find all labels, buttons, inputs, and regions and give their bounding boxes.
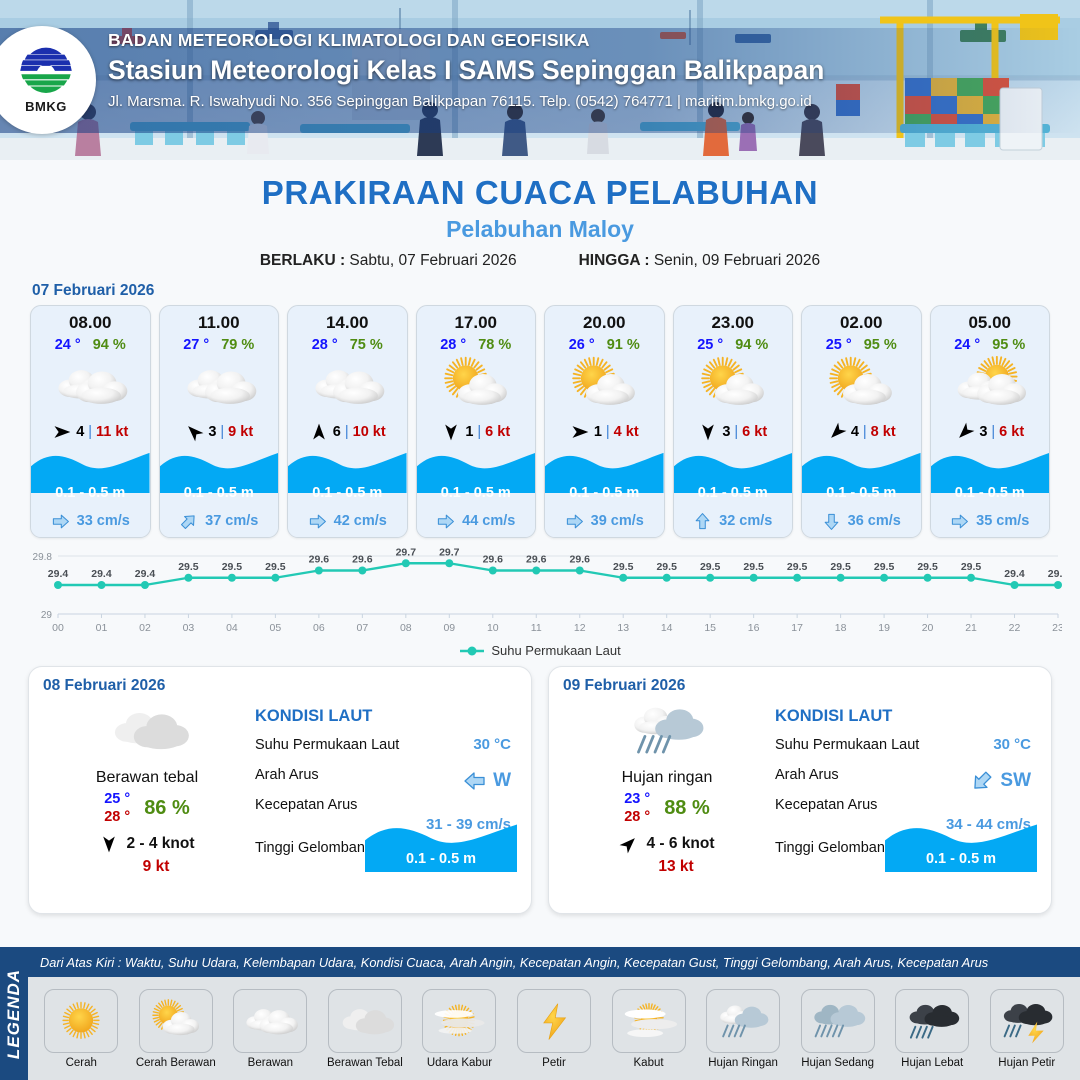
svg-text:29.7: 29.7 bbox=[439, 548, 460, 558]
weather-icon-hujan-petir bbox=[995, 993, 1059, 1049]
wind-direction-arrow-S bbox=[441, 422, 461, 442]
legend-items: Cerah Cerah Berawan bbox=[28, 977, 1080, 1080]
svg-text:29.5: 29.5 bbox=[222, 561, 243, 573]
card-wave-height: 0.1 - 0.5 m bbox=[31, 485, 150, 501]
card-humidity: 91 % bbox=[607, 337, 640, 353]
daily-temps: 25 ° 28 ° 86 % bbox=[43, 790, 251, 826]
legend-item: Berawan bbox=[225, 989, 316, 1069]
card-wind-gust: 9 kt bbox=[228, 424, 253, 440]
card-wind-gust: 6 kt bbox=[742, 424, 767, 440]
legend-icon-box bbox=[328, 989, 402, 1053]
daily-temp-range: 23 ° 28 ° bbox=[624, 790, 650, 826]
card-current-speed: 39 cm/s bbox=[591, 513, 644, 529]
card-wind: 3 | 6 kt bbox=[931, 417, 1050, 447]
station-name: Stasiun Meteorologi Kelas I SAMS Sepingg… bbox=[108, 55, 824, 86]
weather-icon-berawan bbox=[47, 356, 133, 416]
station-address: Jl. Marsma. R. Iswahyudi No. 356 Sepingg… bbox=[108, 93, 824, 110]
legend-icon-box bbox=[895, 989, 969, 1053]
daily-temp-min: 25 ° bbox=[104, 790, 130, 808]
daily-right: KONDISI LAUT Suhu Permukaan Laut 30 °C A… bbox=[771, 697, 1037, 876]
card-wind-separator: | bbox=[345, 424, 349, 440]
page-header: BMKG BADAN METEOROLOGI KLIMATOLOGI DAN G… bbox=[0, 0, 1080, 160]
daily-condition: Berawan tebal bbox=[43, 769, 251, 787]
weather-icon-petir bbox=[522, 993, 586, 1049]
svg-text:16: 16 bbox=[748, 622, 760, 634]
card-weather-icon bbox=[674, 355, 793, 417]
weather-icon-cerah-berawan bbox=[433, 356, 519, 416]
sea-row-sst: Suhu Permukaan Laut 30 °C bbox=[775, 730, 1037, 760]
svg-text:29.5: 29.5 bbox=[961, 561, 982, 573]
current-direction-arrow-S bbox=[822, 512, 841, 531]
card-wind-value: 4 bbox=[851, 424, 859, 440]
wind-direction-arrow-E bbox=[52, 422, 72, 442]
legend-icon-box bbox=[422, 989, 496, 1053]
sea-row-current-speed: Kecepatan Arus bbox=[775, 790, 1037, 820]
svg-text:02: 02 bbox=[139, 622, 151, 634]
hourly-card[interactable]: 08.00 24 ° 94 % 4 | 1 bbox=[30, 305, 151, 538]
wind-direction-arrow-SW bbox=[955, 422, 975, 442]
card-temp-hum: 25 ° 94 % bbox=[674, 337, 793, 353]
svg-text:29.4: 29.4 bbox=[135, 568, 156, 580]
svg-text:29.4: 29.4 bbox=[91, 568, 112, 580]
valid-until-label: HINGGA : bbox=[579, 252, 650, 269]
legend-item: Hujan Sedang bbox=[792, 989, 883, 1069]
valid-until: HINGGA : Senin, 09 Februari 2026 bbox=[579, 252, 821, 270]
card-wave: 0.1 - 0.5 m bbox=[160, 449, 279, 505]
daily-temp-range: 25 ° 28 ° bbox=[104, 790, 130, 826]
legend-item-label: Udara Kabur bbox=[427, 1057, 492, 1069]
legend-item: Berawan Tebal bbox=[320, 989, 411, 1069]
card-time: 08.00 bbox=[31, 306, 150, 333]
legend-line-swatch bbox=[459, 645, 485, 657]
legend-icon-box bbox=[801, 989, 875, 1053]
svg-text:29.5: 29.5 bbox=[787, 561, 808, 573]
svg-text:14: 14 bbox=[661, 622, 673, 634]
card-weather-icon bbox=[417, 355, 536, 417]
card-wave-height: 0.1 - 0.5 m bbox=[545, 485, 664, 501]
card-current-speed: 32 cm/s bbox=[719, 513, 772, 529]
svg-text:01: 01 bbox=[96, 622, 108, 634]
svg-text:15: 15 bbox=[704, 622, 716, 634]
card-temperature: 28 ° bbox=[312, 337, 338, 353]
card-weather-icon bbox=[160, 355, 279, 417]
card-current-speed: 44 cm/s bbox=[462, 513, 515, 529]
card-current: 37 cm/s bbox=[160, 505, 279, 537]
card-current: 32 cm/s bbox=[674, 505, 793, 537]
card-wind-value: 1 bbox=[465, 424, 473, 440]
legend-side-bar: LEGENDA bbox=[0, 947, 28, 1080]
svg-text:12: 12 bbox=[574, 622, 586, 634]
sea-row-wave-label: Tinggi Gelombang bbox=[255, 840, 373, 856]
port-name: Pelabuhan Maloy bbox=[0, 216, 1080, 243]
legend-item: Kabut bbox=[603, 989, 694, 1069]
card-temperature: 24 ° bbox=[954, 337, 980, 353]
card-temp-hum: 27 ° 79 % bbox=[160, 337, 279, 353]
card-time: 05.00 bbox=[931, 306, 1050, 333]
card-temperature: 25 ° bbox=[826, 337, 852, 353]
weather-icon-cerah-berawan bbox=[561, 356, 647, 416]
card-temperature: 27 ° bbox=[183, 337, 209, 353]
card-wind-separator: | bbox=[863, 424, 867, 440]
chart-legend: Suhu Permukaan Laut bbox=[0, 643, 1080, 658]
weather-icon-berawan bbox=[238, 993, 302, 1049]
sea-row-current-speed-label: Kecepatan Arus bbox=[255, 797, 357, 813]
svg-text:17: 17 bbox=[791, 622, 803, 634]
sea-row-current-dir-label: Arah Arus bbox=[255, 767, 319, 783]
card-temp-hum: 28 ° 78 % bbox=[417, 337, 536, 353]
current-direction-arrow-E bbox=[950, 512, 969, 531]
daily-forecast-panel[interactable]: 08 Februari 2026 Berawan tebal bbox=[28, 666, 532, 914]
svg-text:19: 19 bbox=[878, 622, 890, 634]
daily-temp-max: 28 ° bbox=[104, 808, 130, 826]
svg-text:05: 05 bbox=[270, 622, 282, 634]
weather-icon-hujan-lebat bbox=[900, 993, 964, 1049]
svg-text:29.4: 29.4 bbox=[1048, 568, 1062, 580]
weather-icon-berawan-tebal bbox=[333, 993, 397, 1049]
svg-text:29.5: 29.5 bbox=[656, 561, 677, 573]
current-direction-arrow-N bbox=[693, 512, 712, 531]
svg-text:18: 18 bbox=[835, 622, 847, 634]
svg-text:29.5: 29.5 bbox=[700, 561, 721, 573]
title-section: PRAKIRAAN CUACA PELABUHAN Pelabuhan Malo… bbox=[0, 160, 1080, 270]
svg-text:29.5: 29.5 bbox=[874, 561, 895, 573]
card-weather-icon bbox=[802, 355, 921, 417]
card-time: 11.00 bbox=[160, 306, 279, 333]
legend-item-label: Hujan Petir bbox=[998, 1057, 1055, 1069]
card-wind-value: 3 bbox=[979, 424, 987, 440]
wind-direction-arrow-NE bbox=[619, 834, 639, 854]
sea-row-current-dir-label: Arah Arus bbox=[775, 767, 839, 783]
hourly-card[interactable]: 20.00 26 ° 91 % 1 | 4 kt bbox=[544, 305, 665, 538]
daily-wind: 4 - 6 knot bbox=[563, 834, 771, 854]
daily-wave-height: 0.1 - 0.5 m bbox=[365, 851, 517, 867]
sst-chart-svg: 29.82929.40029.40129.40229.50329.50429.5… bbox=[18, 548, 1062, 640]
hourly-card[interactable]: 02.00 25 ° 95 % 4 | 8 kt bbox=[801, 305, 922, 538]
svg-text:29: 29 bbox=[41, 610, 53, 621]
legend-icon-box bbox=[139, 989, 213, 1053]
daily-weather-icon bbox=[43, 697, 251, 763]
legend-item-label: Cerah Berawan bbox=[136, 1057, 216, 1069]
card-time: 20.00 bbox=[545, 306, 664, 333]
weather-icon-cerah-berawan bbox=[144, 993, 208, 1049]
daily-wind: 2 - 4 knot bbox=[43, 834, 251, 854]
card-temperature: 28 ° bbox=[440, 337, 466, 353]
svg-text:06: 06 bbox=[313, 622, 325, 634]
svg-text:29.5: 29.5 bbox=[830, 561, 851, 573]
card-wind-separator: | bbox=[88, 424, 92, 440]
daily-condition: Hujan ringan bbox=[563, 769, 771, 787]
weather-icon-hujan-sedang bbox=[806, 993, 870, 1049]
current-direction-arrow-E bbox=[436, 512, 455, 531]
svg-text:10: 10 bbox=[487, 622, 499, 634]
weather-icon-berawan-sun bbox=[947, 356, 1033, 416]
legend-icon-box bbox=[517, 989, 591, 1053]
card-weather-icon bbox=[31, 355, 150, 417]
svg-text:29.6: 29.6 bbox=[483, 554, 504, 566]
card-current: 33 cm/s bbox=[31, 505, 150, 537]
card-time: 02.00 bbox=[802, 306, 921, 333]
daily-wind-gust: 13 kt bbox=[563, 858, 771, 876]
daily-humidity: 88 % bbox=[664, 797, 710, 820]
sea-row-current-dir: Arah Arus SW bbox=[775, 760, 1037, 790]
svg-text:29.5: 29.5 bbox=[178, 561, 199, 573]
valid-from: BERLAKU : Sabtu, 07 Februari 2026 bbox=[260, 252, 517, 270]
current-direction-arrow-E bbox=[565, 512, 584, 531]
sea-row-sst-label: Suhu Permukaan Laut bbox=[255, 737, 399, 753]
daily-forecast-panel[interactable]: 09 Februari 2026 Hujan ringan bbox=[548, 666, 1052, 914]
card-time: 17.00 bbox=[417, 306, 536, 333]
card-time: 23.00 bbox=[674, 306, 793, 333]
card-weather-icon bbox=[931, 355, 1050, 417]
daily-left: Hujan ringan 23 ° 28 ° 88 % 4 - 6 knot 1… bbox=[563, 697, 771, 876]
daily-wave-graphic: 0.1 - 0.5 m bbox=[365, 820, 517, 872]
card-wind-gust: 6 kt bbox=[485, 424, 510, 440]
agency-name: BADAN METEOROLOGI KLIMATOLOGI DAN GEOFIS… bbox=[108, 30, 824, 51]
card-temp-hum: 24 ° 95 % bbox=[931, 337, 1050, 353]
svg-text:22: 22 bbox=[1009, 622, 1021, 634]
weather-icon-cerah-berawan bbox=[818, 356, 904, 416]
valid-from-label: BERLAKU : bbox=[260, 252, 345, 269]
valid-from-value: Sabtu, 07 Februari 2026 bbox=[349, 252, 516, 269]
legend-item: Petir bbox=[509, 989, 600, 1069]
svg-text:29.5: 29.5 bbox=[265, 561, 286, 573]
wind-direction-arrow-E bbox=[570, 422, 590, 442]
card-wave-height: 0.1 - 0.5 m bbox=[288, 485, 407, 501]
card-wind-value: 1 bbox=[594, 424, 602, 440]
card-wind-value: 3 bbox=[722, 424, 730, 440]
daily-date: 09 Februari 2026 bbox=[563, 677, 1037, 695]
card-current-speed: 36 cm/s bbox=[848, 513, 901, 529]
svg-text:23: 23 bbox=[1052, 622, 1062, 634]
card-humidity: 94 % bbox=[93, 337, 126, 353]
daily-temp-min: 23 ° bbox=[624, 790, 650, 808]
card-wind-separator: | bbox=[477, 424, 481, 440]
legend-item: Cerah bbox=[36, 989, 127, 1069]
card-humidity: 95 % bbox=[992, 337, 1025, 353]
card-wave-height: 0.1 - 0.5 m bbox=[802, 485, 921, 501]
card-wind: 4 | 8 kt bbox=[802, 417, 921, 447]
card-temperature: 26 ° bbox=[569, 337, 595, 353]
sea-row-sst-value: 30 °C bbox=[473, 730, 511, 760]
hourly-card[interactable]: 23.00 25 ° 94 % 3 | 6 kt bbox=[673, 305, 794, 538]
card-wind-separator: | bbox=[991, 424, 995, 440]
card-wave: 0.1 - 0.5 m bbox=[417, 449, 536, 505]
daily-date: 08 Februari 2026 bbox=[43, 677, 517, 695]
card-temp-hum: 26 ° 91 % bbox=[545, 337, 664, 353]
legend-item-label: Kabut bbox=[634, 1057, 664, 1069]
card-wind-gust: 8 kt bbox=[871, 424, 896, 440]
card-humidity: 78 % bbox=[478, 337, 511, 353]
card-current: 36 cm/s bbox=[802, 505, 921, 537]
card-wave: 0.1 - 0.5 m bbox=[31, 449, 150, 505]
hourly-card[interactable]: 05.00 24 ° 95 % 3 | 6 bbox=[930, 305, 1051, 538]
daily-panels: 08 Februari 2026 Berawan tebal bbox=[0, 658, 1080, 914]
svg-text:29.4: 29.4 bbox=[48, 568, 69, 580]
svg-text:29.5: 29.5 bbox=[613, 561, 634, 573]
legend-note: Dari Atas Kiri : Waktu, Suhu Udara, Kele… bbox=[28, 947, 1080, 977]
svg-text:29.5: 29.5 bbox=[743, 561, 764, 573]
svg-text:29.8: 29.8 bbox=[33, 552, 53, 563]
legend-item-label: Petir bbox=[542, 1057, 566, 1069]
svg-text:21: 21 bbox=[965, 622, 977, 634]
card-wind-gust: 6 kt bbox=[999, 424, 1024, 440]
legend-item-label: Cerah bbox=[66, 1057, 97, 1069]
hourly-card[interactable]: 11.00 27 ° 79 % 3 | 9 bbox=[159, 305, 280, 538]
page-title: PRAKIRAAN CUACA PELABUHAN bbox=[0, 174, 1080, 212]
card-wave: 0.1 - 0.5 m bbox=[931, 449, 1050, 505]
sea-row-sst-value: 30 °C bbox=[993, 730, 1031, 760]
hourly-cards: 08.00 24 ° 94 % 4 | 1 bbox=[0, 305, 1080, 538]
card-wind-separator: | bbox=[606, 424, 610, 440]
svg-text:20: 20 bbox=[922, 622, 934, 634]
card-wind: 3 | 9 kt bbox=[160, 417, 279, 447]
card-temp-hum: 25 ° 95 % bbox=[802, 337, 921, 353]
legend-item: Cerah Berawan bbox=[131, 989, 222, 1069]
hourly-card[interactable]: 17.00 28 ° 78 % 1 | 6 kt bbox=[416, 305, 537, 538]
card-wave: 0.1 - 0.5 m bbox=[288, 449, 407, 505]
svg-text:29.6: 29.6 bbox=[570, 554, 591, 566]
card-wave: 0.1 - 0.5 m bbox=[674, 449, 793, 505]
svg-text:29.6: 29.6 bbox=[309, 554, 330, 566]
svg-text:07: 07 bbox=[357, 622, 369, 634]
card-wind-separator: | bbox=[734, 424, 738, 440]
sea-condition-title: KONDISI LAUT bbox=[255, 707, 517, 726]
card-wave: 0.1 - 0.5 m bbox=[802, 449, 921, 505]
svg-text:00: 00 bbox=[52, 622, 64, 634]
hourly-date: 07 Februari 2026 bbox=[32, 282, 1080, 300]
card-wind-value: 4 bbox=[76, 424, 84, 440]
sea-row-current-dir: Arah Arus W bbox=[255, 760, 517, 790]
wind-direction-arrow-S bbox=[99, 834, 119, 854]
legend-section: LEGENDA Dari Atas Kiri : Waktu, Suhu Uda… bbox=[0, 947, 1080, 1080]
legend-icon-box bbox=[44, 989, 118, 1053]
weather-icon-hujan-ringan bbox=[621, 697, 713, 763]
sea-condition-title: KONDISI LAUT bbox=[775, 707, 1037, 726]
daily-wave-height: 0.1 - 0.5 m bbox=[885, 851, 1037, 867]
weather-icon-cerah-berawan bbox=[690, 356, 776, 416]
legend-item-label: Berawan Tebal bbox=[327, 1057, 403, 1069]
legend-item: Hujan Lebat bbox=[887, 989, 978, 1069]
card-current-speed: 35 cm/s bbox=[976, 513, 1029, 529]
card-temp-hum: 24 ° 94 % bbox=[31, 337, 150, 353]
card-wind-value: 6 bbox=[333, 424, 341, 440]
bmkg-emblem-icon bbox=[18, 46, 74, 98]
weather-icon-hujan-ringan bbox=[711, 993, 775, 1049]
card-temperature: 24 ° bbox=[55, 337, 81, 353]
card-wind: 4 | 11 kt bbox=[31, 417, 150, 447]
legend-icon-box bbox=[612, 989, 686, 1053]
card-temp-hum: 28 ° 75 % bbox=[288, 337, 407, 353]
daily-temps: 23 ° 28 ° 88 % bbox=[563, 790, 771, 826]
daily-wind-range: 2 - 4 knot bbox=[126, 835, 194, 853]
valid-until-value: Senin, 09 Februari 2026 bbox=[654, 252, 820, 269]
weather-icon-berawan bbox=[176, 356, 262, 416]
card-current: 44 cm/s bbox=[417, 505, 536, 537]
card-current-speed: 37 cm/s bbox=[205, 513, 258, 529]
chart-legend-label: Suhu Permukaan Laut bbox=[491, 643, 620, 658]
svg-text:13: 13 bbox=[617, 622, 629, 634]
card-time: 14.00 bbox=[288, 306, 407, 333]
daily-wind-range: 4 - 6 knot bbox=[646, 835, 714, 853]
card-humidity: 95 % bbox=[864, 337, 897, 353]
weather-icon-berawan-tebal bbox=[101, 697, 193, 763]
card-wind: 3 | 6 kt bbox=[674, 417, 793, 447]
daily-humidity: 86 % bbox=[144, 797, 190, 820]
card-wind: 1 | 6 kt bbox=[417, 417, 536, 447]
sea-row-current-speed: Kecepatan Arus bbox=[255, 790, 517, 820]
daily-weather-icon bbox=[563, 697, 771, 763]
card-temperature: 25 ° bbox=[697, 337, 723, 353]
wind-direction-arrow-SW bbox=[827, 422, 847, 442]
card-wave-height: 0.1 - 0.5 m bbox=[160, 485, 279, 501]
card-humidity: 79 % bbox=[221, 337, 254, 353]
legend-item-label: Hujan Sedang bbox=[801, 1057, 874, 1069]
sea-row-wave-label: Tinggi Gelombang bbox=[775, 840, 893, 856]
daily-temp-max: 28 ° bbox=[624, 808, 650, 826]
svg-text:29.4: 29.4 bbox=[1004, 568, 1025, 580]
legend-side-label: LEGENDA bbox=[4, 968, 24, 1058]
card-wind-gust: 4 kt bbox=[614, 424, 639, 440]
sea-row-current-speed-label: Kecepatan Arus bbox=[775, 797, 877, 813]
card-current-speed: 33 cm/s bbox=[77, 513, 130, 529]
card-humidity: 94 % bbox=[735, 337, 768, 353]
wind-direction-arrow-NW bbox=[184, 422, 204, 442]
card-wave-height: 0.1 - 0.5 m bbox=[674, 485, 793, 501]
svg-text:29.6: 29.6 bbox=[526, 554, 547, 566]
card-wind: 6 | 10 kt bbox=[288, 417, 407, 447]
svg-text:29.6: 29.6 bbox=[352, 554, 373, 566]
svg-text:29.5: 29.5 bbox=[917, 561, 938, 573]
weather-icon-cerah bbox=[49, 993, 113, 1049]
sea-row-sst-label: Suhu Permukaan Laut bbox=[775, 737, 919, 753]
card-wind-gust: 11 kt bbox=[96, 424, 128, 440]
card-current: 35 cm/s bbox=[931, 505, 1050, 537]
daily-left: Berawan tebal 25 ° 28 ° 86 % 2 - 4 knot … bbox=[43, 697, 251, 876]
svg-text:08: 08 bbox=[400, 622, 412, 634]
card-current: 42 cm/s bbox=[288, 505, 407, 537]
legend-icon-box bbox=[706, 989, 780, 1053]
card-humidity: 75 % bbox=[350, 337, 383, 353]
legend-item: Udara Kabur bbox=[414, 989, 505, 1069]
wind-direction-arrow-N bbox=[309, 422, 329, 442]
card-wind-separator: | bbox=[220, 424, 224, 440]
current-direction-arrow-E bbox=[308, 512, 327, 531]
legend-item-label: Berawan bbox=[248, 1057, 293, 1069]
daily-right: KONDISI LAUT Suhu Permukaan Laut 30 °C A… bbox=[251, 697, 517, 876]
daily-wind-gust: 9 kt bbox=[43, 858, 251, 876]
card-weather-icon bbox=[288, 355, 407, 417]
weather-icon-kabut bbox=[617, 993, 681, 1049]
legend-item: Hujan Petir bbox=[981, 989, 1072, 1069]
card-weather-icon bbox=[545, 355, 664, 417]
wind-direction-arrow-S bbox=[698, 422, 718, 442]
svg-text:04: 04 bbox=[226, 622, 238, 634]
hourly-card[interactable]: 14.00 28 ° 75 % 6 | 1 bbox=[287, 305, 408, 538]
card-wave-height: 0.1 - 0.5 m bbox=[931, 485, 1050, 501]
card-current: 39 cm/s bbox=[545, 505, 664, 537]
legend-icon-box bbox=[990, 989, 1064, 1053]
sea-row-sst: Suhu Permukaan Laut 30 °C bbox=[255, 730, 517, 760]
legend-item: Hujan Ringan bbox=[698, 989, 789, 1069]
current-direction-arrow-E bbox=[51, 512, 70, 531]
weather-icon-berawan bbox=[304, 356, 390, 416]
card-wind-gust: 10 kt bbox=[353, 424, 386, 440]
daily-wave-graphic: 0.1 - 0.5 m bbox=[885, 820, 1037, 872]
bmkg-logo-text: BMKG bbox=[25, 99, 67, 114]
svg-text:09: 09 bbox=[443, 622, 455, 634]
card-wave: 0.1 - 0.5 m bbox=[545, 449, 664, 505]
legend-icon-box bbox=[233, 989, 307, 1053]
